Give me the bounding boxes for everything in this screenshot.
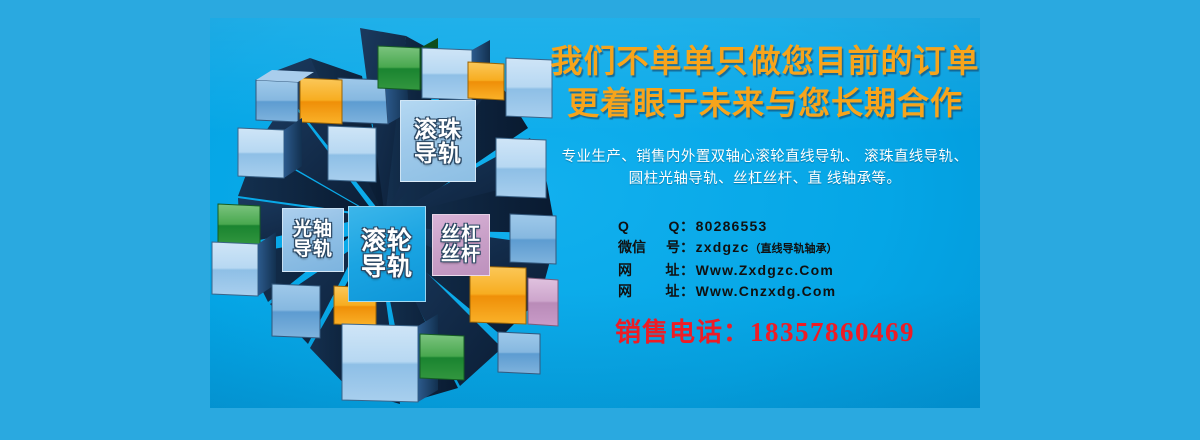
product-tag-line1: 光轴 [293, 220, 333, 240]
product-tag-line2: 导轨 [293, 240, 333, 260]
contact-block: Q Q ： 80286553 微信 号 ： zxdgzc （直线导轨轴承） [550, 216, 980, 302]
contact-value-qq[interactable]: 80286553 [696, 216, 768, 237]
sales-phone-label: 销售电话： [615, 317, 750, 347]
headline: 我们不单单只做您目前的订单 更着眼于未来与您长期合作 [550, 40, 980, 124]
contact-value-website-1[interactable]: Www.Zxdgzc.Com [696, 260, 834, 281]
contact-label-qq: Q Q [618, 216, 680, 237]
product-tag-line2: 导轨 [414, 141, 462, 165]
contact-colon: ： [680, 281, 695, 302]
sales-phone[interactable]: 销售电话：18357860469 [550, 312, 980, 349]
product-tag-line1: 丝杠 [441, 225, 481, 245]
contact-value-website-2[interactable]: Www.Cnzxdg.Com [696, 281, 837, 302]
product-tag-roller-guide[interactable]: 滚轮 导轨 [348, 206, 426, 302]
headline-line1: 我们不单单只做您目前的订单 [550, 43, 979, 79]
contact-row-website-1: 网 址 ： Www.Zxdgzc.Com [550, 260, 980, 281]
contact-row-qq: Q Q ： 80286553 [550, 216, 980, 237]
description: 专业生产、销售内外置双轴心滚轮直线导轨、 滚珠直线导轨、圆柱光轴导轨、丝杠丝杆、… [556, 146, 974, 191]
product-tag-ball-guide[interactable]: 滚珠 导轨 [400, 100, 476, 182]
contact-colon: ： [680, 260, 695, 281]
banner-content: 我们不单单只做您目前的订单 更着眼于未来与您长期合作 专业生产、销售内外置双轴心… [550, 18, 980, 408]
contact-row-wechat: 微信 号 ： zxdgzc （直线导轨轴承） [550, 237, 980, 260]
promo-banner: 滚珠 导轨 光轴 导轨 滚轮 导轨 丝杠 丝杆 我们不单单只做您目前的订单 更着… [210, 18, 980, 408]
product-tag-lead-screw[interactable]: 丝杠 丝杆 [432, 214, 490, 276]
headline-line2: 更着眼于未来与您长期合作 [550, 82, 980, 124]
description-line3: 线轴承等。 [827, 171, 902, 187]
product-tag-line2: 丝杆 [441, 245, 481, 265]
product-tag-optical-shaft-guide[interactable]: 光轴 导轨 [282, 208, 344, 272]
contact-colon: ： [680, 237, 695, 258]
contact-value-wechat[interactable]: zxdgzc [696, 237, 750, 258]
contact-colon: ： [680, 216, 695, 237]
product-tag-line1: 滚轮 [361, 228, 413, 255]
contact-note-wechat: （直线导轨轴承） [750, 239, 838, 260]
banner-page: 滚珠 导轨 光轴 导轨 滚轮 导轨 丝杠 丝杆 我们不单单只做您目前的订单 更着… [0, 0, 1200, 440]
contact-label-website: 网 址 [618, 281, 680, 302]
description-line1: 专业生产、销售内外置双轴心滚轮直线导轨、 [562, 149, 860, 165]
contact-label-wechat: 微信 号 [618, 237, 680, 258]
sales-phone-number[interactable]: 18357860469 [750, 317, 915, 347]
product-tag-line2: 导轨 [361, 254, 413, 281]
product-tag-line1: 滚珠 [414, 117, 462, 141]
contact-row-website-2: 网 址 ： Www.Cnzxdg.Com [550, 281, 980, 302]
contact-label-website: 网 址 [618, 260, 680, 281]
